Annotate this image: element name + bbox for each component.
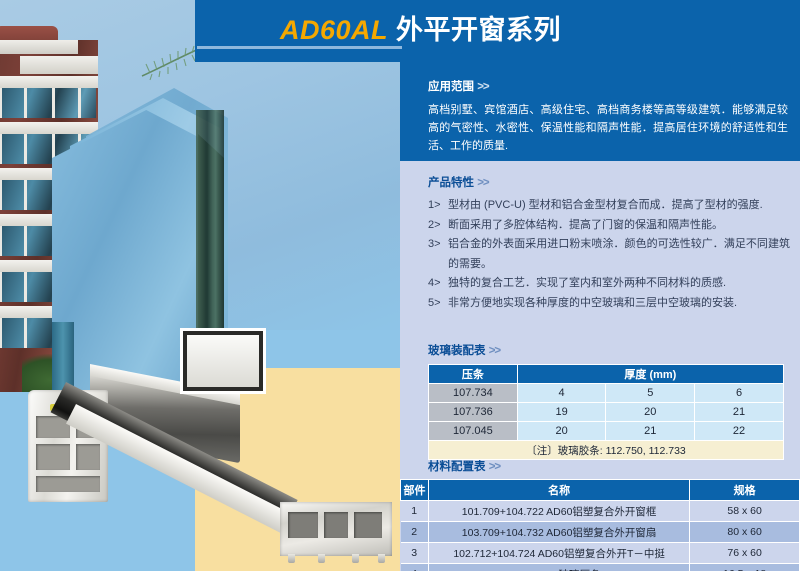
chevron-right-icon: >> (489, 461, 500, 473)
list-item: 1> 型材由 (PVC-U) 型材和铝合金型材复合而成．提高了型材的强度. (428, 196, 790, 216)
table-row: 4 107.045 玻璃压条 16.5 x 18 (401, 564, 800, 571)
glass-row-value: 6 (695, 384, 784, 403)
feature-number: 3> (428, 235, 441, 255)
page-header: AD60AL 外平开窗系列 (195, 0, 800, 62)
glass-row-value: 20 (606, 403, 695, 422)
material-row-number: 3 (401, 543, 429, 564)
glass-row-value: 22 (695, 422, 784, 441)
application-scope-body: 高档别墅、宾馆酒店、高级住宅、高档商务楼等高等级建筑．能够满足较高的气密性、水密… (428, 101, 788, 155)
brochure-page: AD60AL 外平开窗系列 应用范围 >> 高档别墅、宾馆酒店、高级住宅、高档商… (0, 0, 800, 571)
glass-row-code: 107.045 (429, 422, 518, 441)
sill-foot (318, 554, 325, 563)
material-row-spec: 58 x 60 (690, 501, 800, 522)
feature-number: 4> (428, 274, 441, 294)
table-row: 107.736 19 20 21 (429, 403, 784, 422)
product-features-title: 产品特性 (428, 177, 474, 189)
column-header-thickness: 厚度 (mm) (517, 365, 783, 384)
glazing-dark-edge (196, 110, 224, 360)
product-features-section: 产品特性 >> 1> 型材由 (PVC-U) 型材和铝合金型材复合而成．提高了型… (428, 174, 790, 313)
chevron-right-icon: >> (489, 345, 500, 357)
table-row: 3 102.712+104.724 AD60铝塑复合外开T－中挺 76 x 60 (401, 543, 800, 564)
material-row-number: 2 (401, 522, 429, 543)
sill-profile-section (196, 372, 420, 562)
page-title: AD60AL 外平开窗系列 (280, 8, 561, 47)
material-row-spec: 76 x 60 (690, 543, 800, 564)
glass-assembly-heading: 玻璃装配表 >> (428, 342, 784, 358)
sill-chamber-block (280, 502, 392, 556)
table-header-row: 部件 名称 规格 (401, 480, 800, 501)
column-header-part: 部件 (401, 480, 429, 501)
glass-assembly-section: 玻璃装配表 >> 压条 厚度 (mm) 107.734 4 5 6 107.73… (428, 342, 784, 460)
glass-assembly-title: 玻璃装配表 (428, 345, 486, 357)
list-item: 3> 铝合金的外表面采用进口粉末喷涂．颜色的可选性较广．满足不同建筑的需要。 (428, 235, 790, 274)
material-row-name: 107.045 玻璃压条 (428, 564, 689, 571)
window-corner-fragment (180, 328, 266, 394)
sill-foot (352, 554, 359, 563)
profile-glass-edge (52, 322, 74, 392)
glass-row-code: 107.736 (429, 403, 518, 422)
table-row: 107.734 4 5 6 (429, 384, 784, 403)
feature-text: 铝合金的外表面采用进口粉末喷涂．颜色的可选性较广．满足不同建筑的需要。 (448, 238, 790, 270)
material-row-number: 1 (401, 501, 429, 522)
chevron-right-icon: >> (477, 81, 488, 93)
table-row: 2 103.709+104.732 AD60铝塑复合外开窗扇 80 x 60 (401, 522, 800, 543)
application-scope-heading: 应用范围 >> (428, 78, 788, 94)
material-config-heading: 材料配置表 >> (428, 458, 800, 474)
list-item: 5> 非常方便地实现各种厚度的中空玻璃和三层中空玻璃的安装. (428, 294, 790, 314)
application-scope-title: 应用范围 (428, 81, 474, 93)
glass-row-value: 20 (517, 422, 606, 441)
list-item: 2> 断面采用了多腔体结构．提高了门窗的保温和隔声性能。 (428, 216, 790, 236)
column-header-strip: 压条 (429, 365, 518, 384)
building-roof-band (0, 40, 78, 54)
feature-number: 2> (428, 216, 441, 236)
glass-row-value: 5 (606, 384, 695, 403)
table-row: 1 101.709+104.722 AD60铝塑复合外开窗框 58 x 60 (401, 501, 800, 522)
glass-row-value: 21 (695, 403, 784, 422)
feature-number: 1> (428, 196, 441, 216)
material-config-table: 部件 名称 规格 1 101.709+104.722 AD60铝塑复合外开窗框 … (400, 479, 800, 571)
material-config-title: 材料配置表 (428, 461, 486, 473)
glass-row-value: 21 (606, 422, 695, 441)
material-row-number: 4 (401, 564, 429, 571)
material-row-spec: 80 x 60 (690, 522, 800, 543)
sill-foot (288, 554, 295, 563)
material-row-name: 103.709+104.732 AD60铝塑复合外开窗扇 (428, 522, 689, 543)
column-header-spec: 规格 (690, 480, 800, 501)
table-row: 107.045 20 21 22 (429, 422, 784, 441)
material-config-section: 材料配置表 >> 部件 名称 规格 1 101.709+104.722 AD60… (400, 458, 800, 571)
glass-row-value: 4 (517, 384, 606, 403)
feature-text: 型材由 (PVC-U) 型材和铝合金型材复合而成．提高了型材的强度. (448, 199, 763, 211)
feature-text: 断面采用了多腔体结构．提高了门窗的保温和隔声性能。 (448, 219, 723, 231)
column-header-name: 名称 (428, 480, 689, 501)
building-cornice (20, 56, 98, 74)
material-row-spec: 16.5 x 18 (690, 564, 800, 571)
table-note-row: 〔注〕玻璃胶条: 112.750, 112.733 (429, 441, 784, 460)
product-illustration (0, 0, 420, 571)
table-header-row: 压条 厚度 (mm) (429, 365, 784, 384)
product-name: 外平开窗系列 (396, 15, 561, 45)
application-scope-section: 应用范围 >> 高档别墅、宾馆酒店、高级住宅、高档商务楼等高等级建筑．能够满足较… (428, 78, 788, 155)
glass-assembly-table: 压条 厚度 (mm) 107.734 4 5 6 107.736 19 20 2… (428, 364, 784, 460)
list-item: 4> 独特的复合工艺．实现了室内和室外两种不同材料的质感. (428, 274, 790, 294)
material-row-name: 102.712+104.724 AD60铝塑复合外开T－中挺 (428, 543, 689, 564)
material-row-name: 101.709+104.722 AD60铝塑复合外开窗框 (428, 501, 689, 522)
chevron-right-icon: >> (477, 177, 488, 189)
glass-table-note: 〔注〕玻璃胶条: 112.750, 112.733 (429, 441, 784, 460)
feature-text: 独特的复合工艺．实现了室内和室外两种不同材料的质感. (448, 277, 726, 289)
glass-row-code: 107.734 (429, 384, 518, 403)
sill-foot (378, 554, 385, 563)
product-code: AD60AL (280, 15, 388, 45)
feature-text: 非常方便地实现各种厚度的中空玻璃和三层中空玻璃的安装. (448, 297, 737, 309)
glass-row-value: 19 (517, 403, 606, 422)
product-features-heading: 产品特性 >> (428, 174, 790, 190)
feature-number: 5> (428, 294, 441, 314)
product-features-list: 1> 型材由 (PVC-U) 型材和铝合金型材复合而成．提高了型材的强度. 2>… (428, 196, 790, 313)
